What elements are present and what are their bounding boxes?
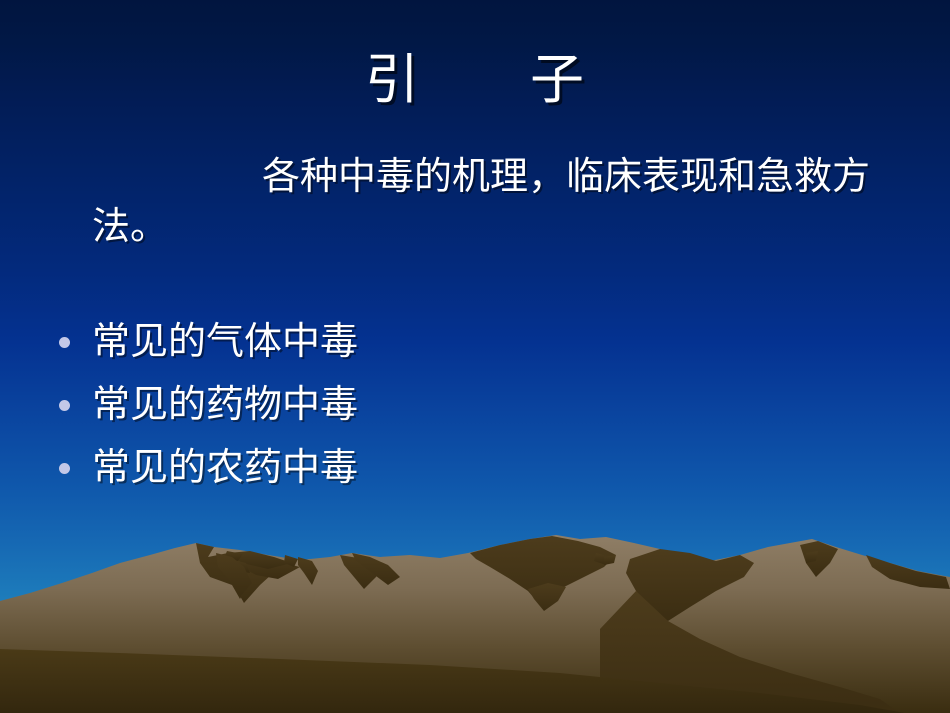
slide-title: 引 子 xyxy=(0,48,950,112)
list-item-label: 常见的农药中毒 xyxy=(92,448,358,489)
list-item: 常见的农药中毒 xyxy=(52,448,752,511)
bullet-dot-icon xyxy=(59,463,70,474)
presentation-slide: 引 子 各种中毒的机理，临床表现和急救方法。 常见的气体中毒 常见的药物中毒 常… xyxy=(0,0,950,713)
list-item-label: 常见的药物中毒 xyxy=(92,385,358,426)
list-item: 常见的气体中毒 xyxy=(52,322,752,385)
list-item-label: 常见的气体中毒 xyxy=(92,322,358,363)
bullet-dot-icon xyxy=(59,400,70,411)
bullet-dot-icon xyxy=(59,337,70,348)
scenery-svg xyxy=(0,533,950,713)
intro-paragraph: 各种中毒的机理，临床表现和急救方法。 xyxy=(92,152,904,252)
bullet-list: 常见的气体中毒 常见的药物中毒 常见的农药中毒 xyxy=(52,322,752,511)
background-scenery xyxy=(0,533,950,713)
list-item: 常见的药物中毒 xyxy=(52,385,752,448)
